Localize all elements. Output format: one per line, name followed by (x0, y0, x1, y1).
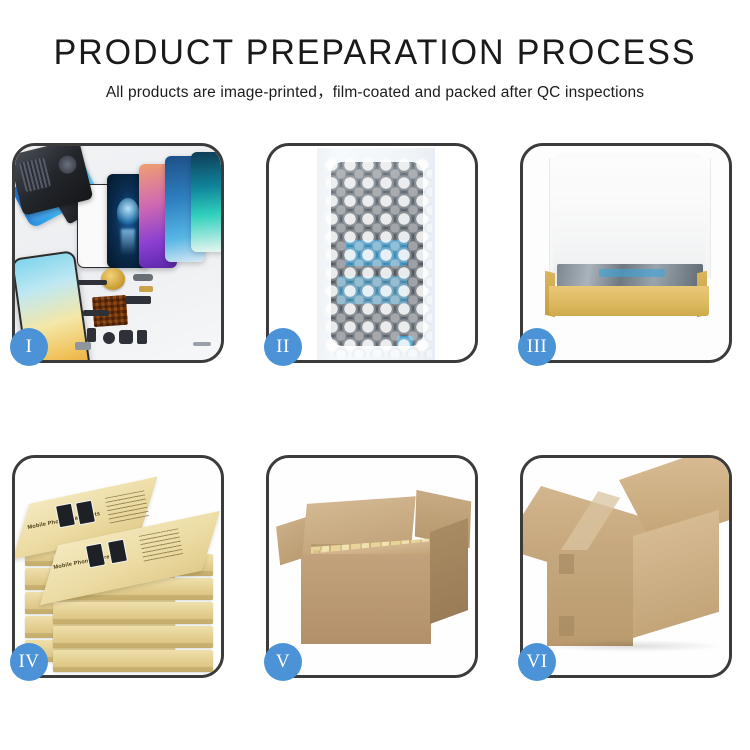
flex-cable-part (77, 280, 107, 285)
step-image-2 (269, 146, 475, 360)
scene-bubble-wrapped-part (269, 146, 475, 360)
carton-handle-tab-upper (559, 554, 574, 574)
home-button-part (103, 332, 115, 344)
carton-handle-tab-lower (559, 616, 574, 636)
step-badge-2: II (264, 328, 302, 366)
step-badge-5: V (264, 643, 302, 681)
ribbon-part (83, 310, 109, 316)
step-panel-3[interactable]: III (520, 143, 732, 363)
stacked-box-right-3 (53, 602, 213, 624)
step-badge-6: VI (518, 643, 556, 681)
carton-front-face (301, 554, 431, 644)
step-image-4: Mobile Phone Spare Parts Mobile Phone Sp… (15, 458, 221, 675)
step-badge-3: III (518, 328, 556, 366)
scene-carton-filling (269, 458, 475, 675)
page-title: PRODUCT PREPARATION PROCESS (11, 33, 739, 73)
button-flex-part (133, 274, 153, 281)
tool-part (193, 342, 211, 346)
step-image-3 (523, 146, 729, 360)
step-image-6 (523, 458, 729, 675)
scene-phone-screens-parts (15, 146, 221, 360)
sim-tray-part (87, 328, 96, 342)
step-panel-4[interactable]: Mobile Phone Spare Parts Mobile Phone Sp… (12, 455, 224, 678)
step-panel-6[interactable]: VI (520, 455, 732, 678)
scene-sealed-carton (523, 458, 729, 675)
step-panel-1[interactable]: I (12, 143, 224, 363)
stacked-box-right-1 (53, 650, 213, 672)
kraft-box-front-wall (549, 286, 709, 316)
stacked-box-right-2 (53, 626, 213, 648)
battery-connector-part (137, 330, 147, 344)
step-image-1 (15, 146, 221, 360)
vibrator-part (119, 330, 133, 344)
bubble-wrap-layer-back (332, 165, 432, 357)
camera-flex-part (125, 296, 151, 304)
carton-right-face (430, 518, 468, 624)
process-step-grid: I II (12, 143, 740, 678)
page-header: PRODUCT PREPARATION PROCESS All products… (0, 0, 750, 104)
screw-set-part (75, 342, 91, 350)
step-panel-2[interactable]: II (266, 143, 478, 363)
step-badge-1: I (10, 328, 48, 366)
speaker-coin-part (101, 268, 125, 290)
step-image-5 (269, 458, 475, 675)
teal-gradient-phone (191, 152, 221, 252)
scene-inner-box-foam (523, 146, 729, 360)
step-badge-4: IV (10, 643, 48, 681)
step-panel-5[interactable]: V (266, 455, 478, 678)
gold-contact-part (139, 286, 153, 292)
carton-ground-shadow (545, 640, 721, 652)
scene-labeled-box-stack: Mobile Phone Spare Parts Mobile Phone Sp… (15, 458, 221, 675)
page-subtitle: All products are image-printed，film-coat… (0, 82, 750, 104)
